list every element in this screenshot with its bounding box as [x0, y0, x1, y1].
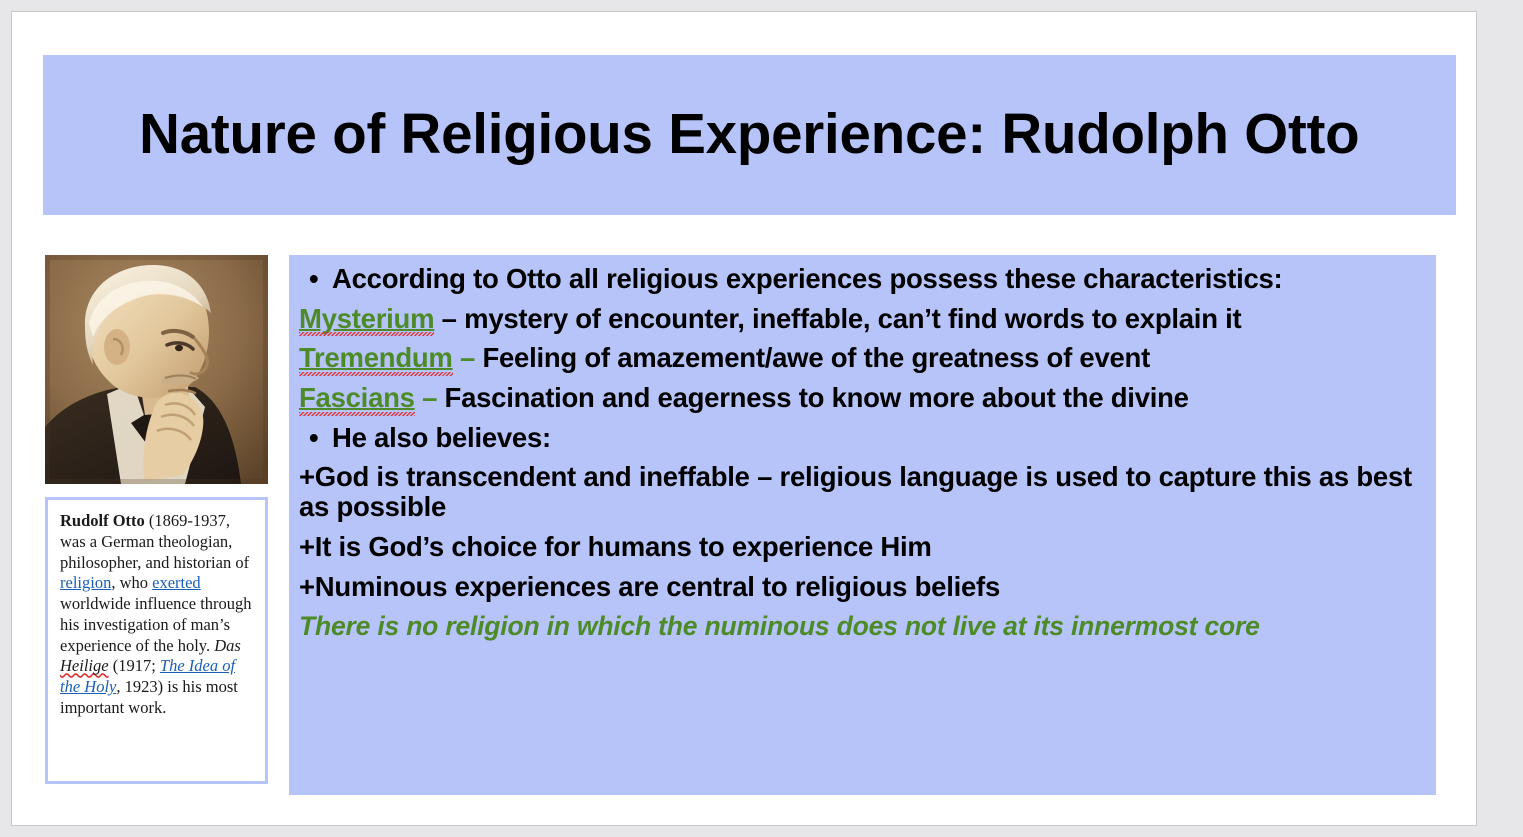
caption-link-religion[interactable]: religion	[60, 573, 111, 592]
content-bullet-intro: •According to Otto all religious experie…	[299, 264, 1430, 294]
content-bullet-intro-text: According to Otto all religious experien…	[332, 263, 1282, 294]
caption-work-title-das: Das	[214, 636, 241, 655]
bullet-dot-icon: •	[309, 423, 318, 453]
caption-segment-2: , who	[111, 573, 152, 592]
content-term-fascians: Fascians – Fascination and eagerness to …	[299, 383, 1430, 413]
content-belief-2: +It is God’s choice for humans to experi…	[299, 532, 1430, 562]
bullet-dot-icon: •	[309, 264, 318, 294]
term-definition-fascians: Fascination and eagerness to know more a…	[445, 382, 1189, 413]
rudolf-otto-caption-box: Rudolf Otto (1869-1937, was a German the…	[45, 497, 268, 784]
slide-title-banner: Nature of Religious Experience: Rudolph …	[43, 55, 1456, 215]
caption-work-title-heilige: Heilige	[60, 656, 109, 675]
slide-content-box: •According to Otto all religious experie…	[289, 255, 1436, 795]
caption-name: Rudolf Otto	[60, 511, 145, 530]
term-keyword-tremendum: Tremendum	[299, 342, 453, 373]
caption-segment-4: (1917;	[109, 656, 160, 675]
page-title: Nature of Religious Experience: Rudolph …	[139, 105, 1359, 165]
term-dash-tremendum: –	[453, 342, 483, 373]
term-keyword-mysterium: Mysterium	[299, 303, 434, 334]
portrait-photo-icon	[45, 255, 268, 484]
caption-link-exerted[interactable]: exerted	[152, 573, 201, 592]
rudolf-otto-portrait-image	[45, 255, 268, 484]
content-belief-1: +God is transcendent and ineffable – rel…	[299, 462, 1430, 521]
term-definition-tremendum: Feeling of amazement/awe of the greatnes…	[482, 342, 1150, 373]
term-keyword-fascians: Fascians	[299, 382, 415, 413]
term-dash-fascians: –	[415, 382, 445, 413]
slide-canvas: Nature of Religious Experience: Rudolph …	[11, 11, 1477, 826]
term-definition-mysterium: mystery of encounter, ineffable, can’t f…	[464, 303, 1241, 334]
term-keyword-wrap: Tremendum	[299, 343, 453, 373]
term-keyword-wrap: Mysterium	[299, 304, 434, 334]
content-term-mysterium: Mysterium – mystery of encounter, ineffa…	[299, 304, 1430, 334]
term-keyword-wrap: Fascians	[299, 383, 415, 413]
content-belief-3: +Numinous experiences are central to rel…	[299, 572, 1430, 602]
caption-text: Rudolf Otto (1869-1937, was a German the…	[48, 500, 265, 725]
term-dash-mysterium: –	[434, 303, 464, 334]
content-bullet-believes-text: He also believes:	[332, 422, 551, 453]
content-quote: There is no religion in which the numino…	[299, 612, 1430, 641]
content-bullet-believes: •He also believes:	[299, 423, 1430, 453]
content-term-tremendum: Tremendum – Feeling of amazement/awe of …	[299, 343, 1430, 373]
